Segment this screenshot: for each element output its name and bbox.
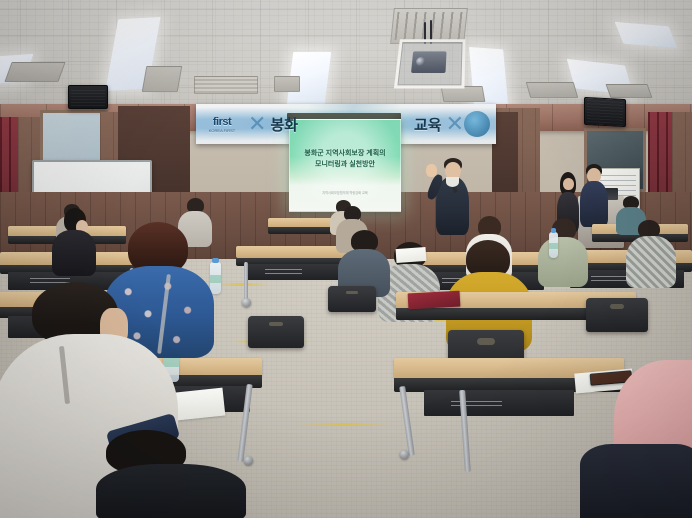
floor-tape-marking (296, 423, 392, 426)
skirt (580, 444, 692, 518)
banner-logo-text: first (213, 116, 231, 128)
torso (626, 236, 676, 288)
chair (328, 286, 376, 312)
presenter-shirt-collar (446, 177, 459, 187)
chair (586, 298, 648, 332)
banner-left-text: 봉화 (270, 114, 298, 135)
bottle-label (549, 243, 558, 249)
handout-paper (396, 247, 427, 263)
torso (52, 230, 96, 276)
projection-screen: 봉화군 지역사회보장 계획의 모니터링과 실천방안 지역사회보장협의체 역량강화… (289, 119, 401, 212)
chair-handle-slot (269, 322, 282, 326)
mount-bars (395, 12, 464, 40)
desk-caster (400, 450, 409, 459)
ceiling-air-diffuser (194, 76, 258, 94)
banner-logo: first KOREA FIRST (196, 116, 248, 133)
modesty-vents (451, 398, 502, 406)
ceiling-vent (606, 84, 653, 98)
slide-title-line1: 봉화군 지역사회보장 계획의 (296, 149, 394, 160)
banner-divider-icon: ✕ (446, 111, 464, 137)
floor-tape-marking (214, 283, 270, 286)
torso (96, 464, 246, 518)
slide-title-line2: 모니터링과 실천방안 (296, 160, 394, 171)
chair-handle-slot (477, 338, 495, 344)
ceiling-vent (5, 62, 66, 82)
ceiling-vent (274, 76, 300, 92)
slide-subtitle: 지역사회보장협의체 역량강화 교육 (300, 191, 390, 196)
banner-logo-subtext: KOREA FIRST (196, 128, 248, 133)
handout-paper (175, 388, 226, 421)
bottle-cap (551, 228, 556, 232)
banner-emblem-icon (464, 111, 490, 137)
wall-speaker-left (68, 85, 108, 109)
attendee-sage-woman (538, 218, 588, 284)
wall-speaker-right (584, 97, 626, 127)
speaker-grill (71, 88, 105, 106)
projector-lens-icon (416, 57, 426, 66)
chair (248, 316, 304, 348)
chair-handle-slot (610, 304, 625, 309)
banner-divider-icon: ✕ (248, 111, 266, 137)
attendee-foreground-dark (96, 430, 246, 518)
torso (538, 237, 588, 287)
head (563, 178, 574, 190)
attendee-pink-right (614, 360, 692, 518)
presenter-raised-hand (426, 164, 437, 177)
ceiling-vent (142, 66, 183, 92)
attendee-black-top-woman (52, 208, 96, 274)
speaker-grill (587, 100, 623, 124)
water-bottle (549, 232, 558, 258)
banner-right-text: 교육 (414, 114, 442, 135)
attendee-right-patterned (626, 220, 676, 286)
modesty-vents (265, 269, 302, 274)
desk-modesty-panel (424, 390, 574, 416)
projector-cage-icon (394, 39, 466, 88)
slide-title: 봉화군 지역사회보장 계획의 모니터링과 실천방안 (296, 149, 394, 171)
desk-leg (244, 262, 248, 302)
desk-caster (242, 298, 251, 307)
wall-window-left (40, 110, 108, 164)
attendee-center-greyblue (338, 230, 390, 294)
red-folder (408, 291, 461, 310)
modesty-vents (591, 276, 630, 281)
chair-handle-slot (346, 291, 358, 295)
projector-body (411, 51, 447, 73)
photo-scene: first KOREA FIRST ✕ 봉화 교육 ✕ 봉화군 지역사회보장 계… (0, 0, 692, 518)
ceiling-vent (526, 82, 579, 98)
